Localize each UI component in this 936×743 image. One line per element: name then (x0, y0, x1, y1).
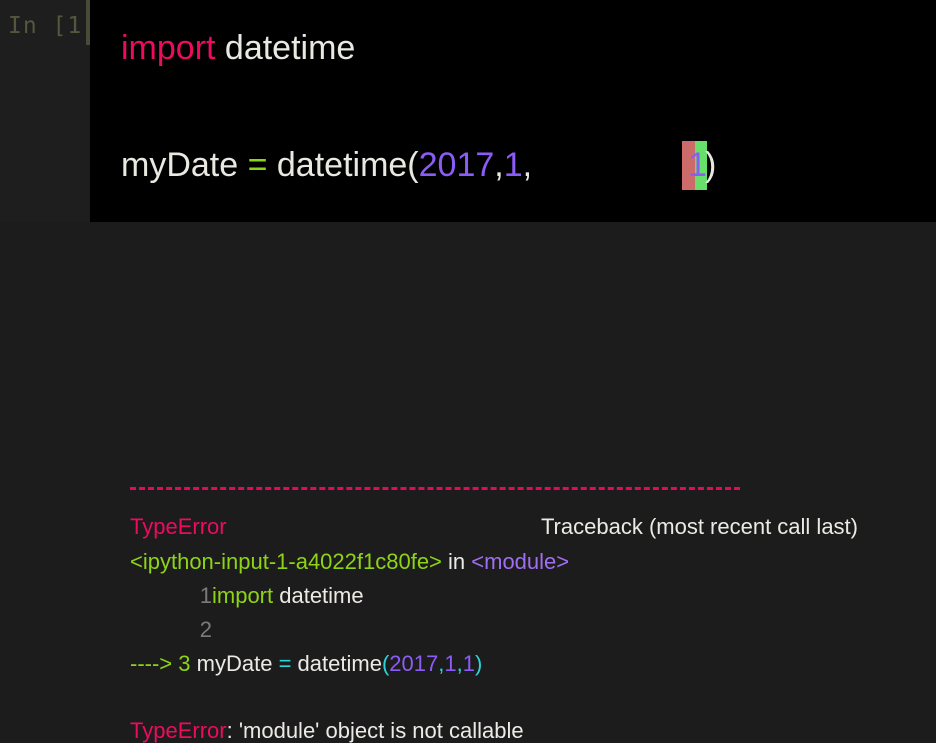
code-comma-2: , (523, 146, 532, 184)
traceback-message-detail: : 'module' object is not callable (227, 718, 524, 743)
traceback-source-assign: = (279, 651, 292, 676)
code-line-2[interactable]: myDate = datetime(2017,1, (121, 148, 532, 182)
traceback-line-number: 1 (130, 585, 212, 607)
traceback-source-arg-year: 2017 (389, 651, 438, 676)
traceback-source-paren-close: ) (475, 651, 482, 676)
code-comma-1: , (494, 146, 503, 184)
traceback-source-callee: datetime (291, 651, 382, 676)
input-prompt-gutter: In [1]: (0, 0, 90, 222)
code-editor-area[interactable]: import datetime myDate = datetime(2017,1… (90, 0, 936, 222)
traceback-line-number: 3 (178, 651, 190, 676)
traceback-note: Traceback (most recent call last) (541, 516, 858, 538)
traceback-source-text: datetime (273, 583, 364, 608)
traceback-separator-rule (130, 487, 740, 490)
code-paren-close: ) (705, 148, 716, 182)
traceback-message-type: TypeError (130, 718, 227, 743)
traceback-header-row: TypeErrorTraceback (most recent call las… (130, 516, 858, 538)
traceback-exception-type: TypeError (130, 514, 227, 539)
traceback-frame-location: <ipython-input-1-a4022f1c80fe> in <modul… (130, 551, 569, 573)
traceback-line-number: 2 (130, 619, 212, 641)
traceback-source-paren-open: ( (382, 651, 389, 676)
code-module-name: datetime (225, 29, 355, 67)
code-arg-year: 2017 (419, 146, 495, 184)
traceback-source-line-3: ----> 3 myDate = datetime(2017,1,1) (130, 653, 482, 675)
code-line-1[interactable]: import datetime (121, 31, 355, 65)
traceback-source-line-1: 1import datetime (130, 585, 364, 607)
traceback-in-keyword: in (442, 549, 471, 574)
traceback-source-keyword: import (212, 583, 273, 608)
code-arg-month: 1 (504, 146, 523, 184)
code-space (215, 29, 224, 67)
traceback-source-arg-day: 1 (463, 651, 475, 676)
traceback-scope: <module> (471, 549, 569, 574)
traceback-source-variable: myDate (197, 651, 279, 676)
code-call-open: datetime( (267, 146, 418, 184)
traceback-error-arrow: ----> (130, 651, 172, 676)
traceback-source-arg-month: 1 (444, 651, 456, 676)
code-variable-mydate: myDate (121, 146, 248, 184)
traceback-message-row: TypeError: 'module' object is not callab… (130, 720, 524, 742)
code-keyword-import: import (121, 29, 215, 67)
traceback-frame-file: <ipython-input-1-a4022f1c80fe> (130, 549, 442, 574)
code-input-cell[interactable]: In [1]: import datetime myDate = datetim… (0, 0, 936, 222)
code-assign-operator: = (248, 146, 268, 184)
traceback-source-line-2: 2 (130, 619, 212, 641)
notebook-screenshot: In [1]: import datetime myDate = datetim… (0, 0, 936, 594)
traceback-output-area: TypeErrorTraceback (most recent call las… (0, 222, 936, 594)
